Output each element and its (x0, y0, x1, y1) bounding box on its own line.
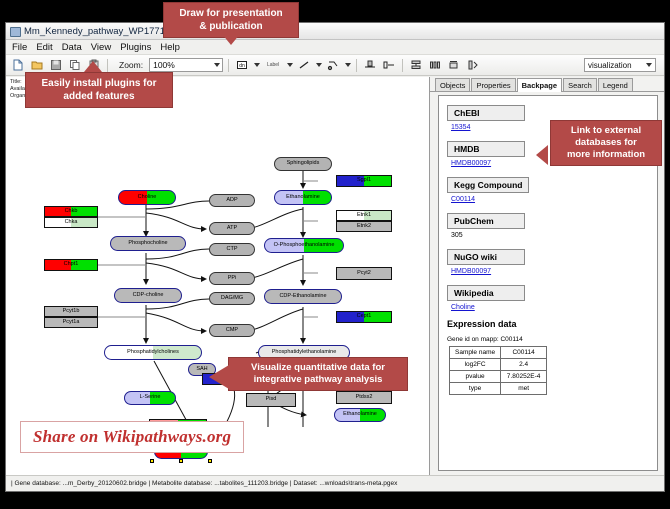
gene-ptdss2[interactable]: Ptdss2 (336, 391, 392, 404)
table-row: Sample name C00114 (450, 347, 547, 359)
callout-plugins-line2: added features (34, 90, 164, 103)
node-label: Pcyt1a (63, 320, 80, 326)
db-header-wikipedia: Wikipedia (447, 285, 525, 301)
db-header-pubchem: PubChem (447, 213, 525, 229)
statusbar: | Gene database: ...m_Derby_20120602.bri… (6, 475, 664, 491)
zoom-combobox[interactable]: 100% (149, 58, 223, 72)
label-icon[interactable]: Label (263, 57, 283, 73)
db-header-nugo: NuGO wiki (447, 249, 525, 265)
node-cdp-ethanolamine[interactable]: CDP-Ethanolamine (264, 289, 342, 304)
tab-objects[interactable]: Objects (435, 78, 470, 91)
node-label: DAG/MG (221, 296, 243, 302)
chevron-down-icon (214, 63, 220, 67)
open-icon[interactable] (29, 57, 45, 73)
anchor-icon[interactable] (325, 57, 341, 73)
callout-links-arrow (536, 145, 548, 165)
zoom-value: 100% (153, 60, 175, 70)
node-choline-top[interactable]: Choline (118, 190, 176, 205)
order-icon[interactable] (446, 57, 462, 73)
expression-table: Sample name C00114 log2FC 2.4 pvalue 7.8… (449, 346, 547, 395)
distribute-icon[interactable] (427, 57, 443, 73)
node-label: Ethanolamine (343, 412, 377, 418)
pathway-canvas[interactable]: Title: Availa Organ (6, 77, 430, 475)
node-phosphocholine[interactable]: Phosphocholine (110, 236, 186, 251)
share-banner-text: Share on Wikipathways.org (33, 427, 231, 446)
node-label: Chkb (65, 209, 78, 215)
db-value-pubchem: 305 (451, 232, 649, 239)
node-label: Chka (65, 220, 78, 226)
statusbar-text: | Gene database: ...m_Derby_20120602.bri… (11, 480, 401, 487)
callout-visualize-line2: integrative pathway analysis (237, 374, 399, 386)
svg-text:dn: dn (239, 63, 245, 69)
node-label: Pcyt2 (357, 271, 371, 277)
gene-chkb[interactable]: Chkb (44, 206, 98, 217)
line-chevron-icon[interactable] (315, 57, 322, 73)
datanode-icon[interactable]: dn (234, 57, 250, 73)
node-ctp[interactable]: CTP (209, 243, 255, 256)
cell-label: pvalue (450, 371, 501, 383)
tab-legend[interactable]: Legend (598, 78, 633, 91)
node-label: CDP-Ethanolamine (279, 294, 326, 300)
node-label: Ethanolamine (286, 195, 320, 201)
copy-icon[interactable] (67, 57, 83, 73)
node-label: Chpt1 (64, 262, 79, 268)
node-label: Etnk2 (357, 224, 371, 230)
node-ethanolamine-bottom[interactable]: Ethanolamine (334, 408, 386, 422)
toolbar-separator-4 (402, 59, 403, 72)
callout-plugins: Easily install plugins for added feature… (25, 72, 173, 108)
node-atp[interactable]: ATP (209, 222, 255, 235)
callout-draw-line2: & publication (172, 20, 290, 33)
cell-value: met (501, 383, 547, 395)
node-label: Cept1 (357, 314, 372, 320)
callout-draw-arrow (222, 34, 240, 45)
node-label: CDP-choline (133, 293, 164, 299)
menu-file[interactable]: File (12, 42, 27, 53)
menu-plugins[interactable]: Plugins (120, 42, 151, 53)
callout-links-line3: more information (559, 149, 653, 161)
node-adp[interactable]: ADP (209, 194, 255, 207)
node-label: Pisd (266, 397, 277, 403)
share-banner: Share on Wikipathways.org (20, 421, 244, 453)
node-o-phosphoethanolamine[interactable]: O-Phosphoethanolamine (264, 238, 344, 253)
node-label: SAH (196, 367, 207, 373)
group-icon[interactable] (381, 57, 397, 73)
toolbar-separator-1 (107, 59, 108, 72)
cell-label: Sample name (450, 347, 501, 359)
visualization-value: visualization (588, 61, 632, 70)
gene-pisd[interactable]: Pisd (246, 393, 296, 407)
menu-edit[interactable]: Edit (36, 42, 52, 53)
save-icon[interactable] (48, 57, 64, 73)
node-cdp-choline[interactable]: CDP-choline (114, 288, 182, 303)
node-label: Sgpl1 (357, 178, 371, 184)
db-link-kegg[interactable]: C00114 (451, 196, 649, 203)
tab-properties[interactable]: Properties (471, 78, 515, 91)
node-label: Phosphatidylcholines (127, 350, 179, 356)
new-icon[interactable] (10, 57, 26, 73)
node-label: Pcyt1b (63, 309, 80, 315)
callout-plugins-line1: Easily install plugins for (34, 77, 164, 90)
zoom-label: Zoom: (119, 60, 143, 70)
gene-etnk2[interactable]: Etnk2 (336, 221, 392, 232)
node-dagmg[interactable]: DAG/MG (209, 292, 255, 305)
menu-data[interactable]: Data (62, 42, 82, 53)
node-ethanolamine[interactable]: Ethanolamine (274, 190, 332, 205)
gene-sgpl1[interactable]: Sgpl1 (336, 175, 392, 187)
callout-visualize: Visualize quantitative data for integrat… (228, 357, 408, 391)
menu-view[interactable]: View (91, 42, 111, 53)
node-label: CMP (226, 328, 238, 334)
node-phosphatidylcholines[interactable]: Phosphatidylcholines (104, 345, 202, 360)
node-label: L-Serine (140, 395, 161, 401)
visualization-combobox[interactable]: visualization (584, 58, 656, 72)
screenshot-root: Mm_Kennedy_pathway_WP1771_45176.gpml Fil… (0, 0, 670, 509)
callout-visualize-arrow (209, 365, 229, 389)
table-row: log2FC 2.4 (450, 359, 547, 371)
gene-pcyt2[interactable]: Pcyt2 (336, 267, 392, 280)
cell-value: 2.4 (501, 359, 547, 371)
menubar: File Edit Data View Plugins Help (6, 40, 664, 55)
callout-visualize-line1: Visualize quantitative data for (237, 362, 399, 374)
node-ppi[interactable]: PPi (209, 272, 255, 285)
db-header-kegg: Kegg Compound (447, 177, 529, 193)
table-row: type met (450, 383, 547, 395)
anchor-chevron-icon[interactable] (344, 57, 351, 73)
node-sphingolipids[interactable]: Sphingolipids (274, 157, 332, 171)
app-icon (10, 26, 20, 36)
node-cmp[interactable]: CMP (209, 324, 255, 337)
node-label: CTP (227, 247, 238, 253)
toolbar-separator-3 (356, 59, 357, 72)
cell-value: C00114 (501, 347, 547, 359)
callout-links: Link to external databases for more info… (550, 120, 662, 166)
expression-data-title: Expression data (447, 319, 649, 329)
db-header-hmdb: HMDB (447, 141, 525, 157)
menu-help[interactable]: Help (160, 42, 180, 53)
db-link-nugo[interactable]: HMDB00097 (451, 268, 649, 275)
datanode-chevron-icon[interactable] (253, 57, 260, 73)
node-label: O-Phosphoethanolamine (274, 243, 335, 249)
stack-icon[interactable] (408, 57, 424, 73)
cell-value: 7.80252E-4 (501, 371, 547, 383)
table-row: pvalue 7.80252E-4 (450, 371, 547, 383)
gene-chpt1[interactable]: Chpt1 (44, 259, 98, 271)
line-icon[interactable] (296, 57, 312, 73)
node-label: Etnk1 (357, 213, 371, 219)
node-label: Sphingolipids (287, 161, 320, 167)
node-label: Phosphocholine (128, 241, 167, 247)
node-label: Phosphatidylethanolamine (272, 350, 337, 356)
callout-links-line2: databases for (559, 137, 653, 149)
cell-label: log2FC (450, 359, 501, 371)
db-link-wikipedia[interactable]: Choline (451, 304, 649, 311)
node-label: Ptdss2 (356, 395, 373, 401)
gene-cept1[interactable]: Cept1 (336, 311, 392, 323)
node-label: ATP (227, 226, 237, 232)
label-chevron-icon[interactable] (286, 57, 293, 73)
tab-backpage[interactable]: Backpage (517, 78, 562, 92)
side-panel-tabs: Objects Properties Backpage Search Legen… (430, 77, 664, 92)
gene-id-line: Gene id on mapp: C00114 (447, 336, 649, 343)
cell-label: type (450, 383, 501, 395)
callout-plugins-arrow (84, 61, 102, 72)
gene-pcyt1a[interactable]: Pcyt1a (44, 317, 98, 328)
callout-links-line1: Link to external (559, 125, 653, 137)
toolbar-separator-2 (228, 59, 229, 72)
node-l-serine-left[interactable]: L-Serine (124, 391, 176, 405)
chevron-down-icon (646, 63, 652, 67)
callout-draw-line1: Draw for presentation (172, 7, 290, 20)
gene-pcyt1b[interactable]: Pcyt1b (44, 306, 98, 317)
db-header-chebi: ChEBI (447, 105, 525, 121)
align-icon[interactable] (362, 57, 378, 73)
tab-search[interactable]: Search (563, 78, 597, 91)
gene-etnk1[interactable]: Etnk1 (336, 210, 392, 221)
node-label: PPi (228, 276, 237, 282)
window-titlebar: Mm_Kennedy_pathway_WP1771_45176.gpml (6, 23, 664, 40)
layer-icon[interactable] (465, 57, 481, 73)
callout-draw: Draw for presentation & publication (163, 2, 299, 38)
node-label: ADP (226, 198, 237, 204)
node-label: Choline (138, 195, 157, 201)
gene-chka[interactable]: Chka (44, 217, 98, 228)
